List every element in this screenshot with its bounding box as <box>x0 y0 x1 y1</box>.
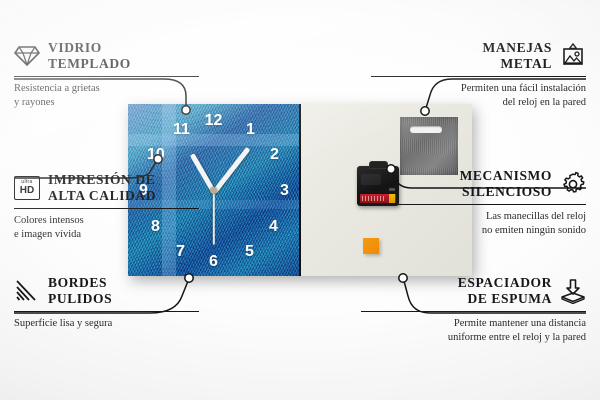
callout-rule <box>361 311 586 313</box>
hanger-slot <box>410 126 442 133</box>
callout-manejas-metal[interactable]: MANEJAS METAL Permiten una fácil instala… <box>371 40 586 110</box>
metal-hanger-plate <box>400 117 458 175</box>
callout-subtitle-line2: y rayones <box>14 96 199 110</box>
callout-header: ultra HD IMPRESIÓN DE ALTA CALIDAD <box>14 172 199 204</box>
callout-title: BORDES PULIDOS <box>48 275 112 307</box>
callout-espaciador-de-espuma[interactable]: ESPACIADOR DE ESPUMA Permite mantener un… <box>361 275 586 345</box>
callout-bordes-pulidos[interactable]: BORDES PULIDOS Superficie lisa y segura <box>14 275 199 331</box>
callout-rule <box>14 76 199 78</box>
callout-title: MANEJAS METAL <box>483 40 552 72</box>
callout-subtitle-line2: del reloj en la pared <box>371 96 586 110</box>
callout-header: BORDES PULIDOS <box>14 275 199 307</box>
ultra-hd-icon-main-text: HD <box>20 186 34 196</box>
callout-subtitle-line2: uniforme entre el reloj y la pared <box>361 331 586 345</box>
diamond-icon <box>14 43 40 69</box>
callout-rule <box>371 204 586 206</box>
callout-header: MECANISMO SILENCIOSO <box>371 168 586 200</box>
callout-rule <box>14 208 199 210</box>
press-down-foam-icon <box>560 278 586 304</box>
callout-header: ESPACIADOR DE ESPUMA <box>361 275 586 307</box>
foam-spacer-square <box>363 238 379 254</box>
callout-rule <box>14 311 199 313</box>
callout-subtitle-line1: Colores intensos <box>14 214 199 228</box>
callout-title: VIDRIO TEMPLADO <box>48 40 131 72</box>
callout-title: IMPRESIÓN DE ALTA CALIDAD <box>48 172 156 204</box>
infographic-canvas: 12 1 2 3 4 5 6 7 8 9 10 11 <box>0 0 600 400</box>
callout-impresion-alta-calidad[interactable]: ultra HD IMPRESIÓN DE ALTA CALIDAD Color… <box>14 172 199 242</box>
callout-subtitle-line2: no emiten ningún sonido <box>371 224 586 238</box>
callout-subtitle-line1: Permiten una fácil instalación <box>371 82 586 96</box>
callout-title: MECANISMO SILENCIOSO <box>460 168 552 200</box>
callout-rule <box>371 76 586 78</box>
callout-subtitle-line1: Resistencia a grietas <box>14 82 199 96</box>
ultra-hd-icon: ultra HD <box>14 175 40 201</box>
callout-mecanismo-silencioso[interactable]: MECANISMO SILENCIOSO Las manecillas del … <box>371 168 586 238</box>
polished-edge-icon <box>14 278 40 304</box>
wall-hanging-picture-icon <box>560 43 586 69</box>
callout-subtitle-line2: e imagen vívida <box>14 228 199 242</box>
callout-subtitle-line1: Superficie lisa y segura <box>14 317 199 331</box>
callout-subtitle-line1: Las manecillas del reloj <box>371 210 586 224</box>
callout-header: MANEJAS METAL <box>371 40 586 72</box>
callout-title: ESPACIADOR DE ESPUMA <box>458 275 552 307</box>
callout-header: VIDRIO TEMPLADO <box>14 40 199 72</box>
callout-subtitle-line1: Permite mantener una distancia <box>361 317 586 331</box>
callout-vidrio-templado[interactable]: VIDRIO TEMPLADO Resistencia a grietas y … <box>14 40 199 110</box>
gear-icon <box>560 171 586 197</box>
